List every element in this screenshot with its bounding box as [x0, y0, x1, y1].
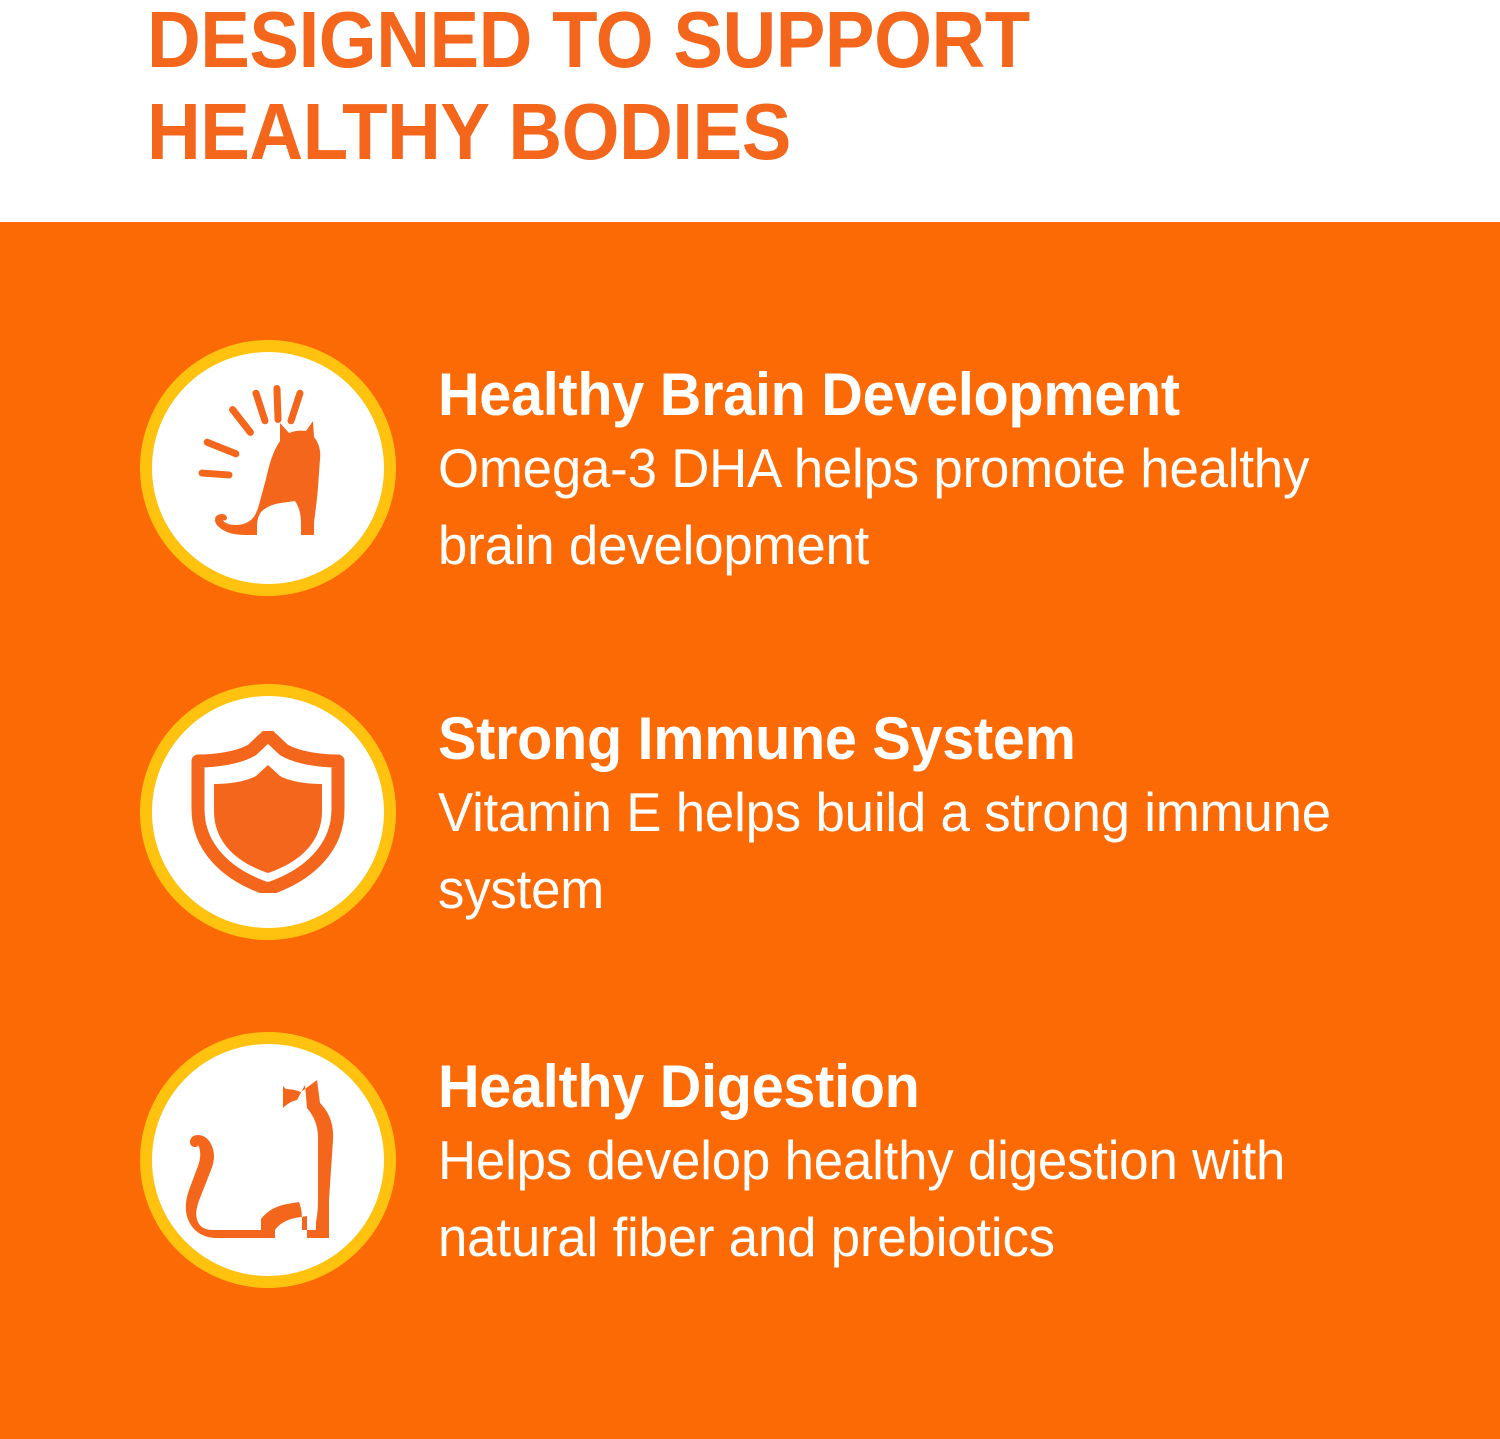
benefit-icon-badge — [140, 684, 396, 940]
benefit-title: Healthy Digestion — [438, 1054, 1408, 1120]
benefit-text-block: Strong Immune System Vitamin E helps bui… — [438, 684, 1448, 928]
benefit-description: Helps develop healthy digestion with nat… — [438, 1122, 1408, 1276]
cat-digestion-arrow-icon — [183, 1080, 353, 1240]
infographic-page: DESIGNED TO SUPPORT HEALTHY BODIES — [0, 0, 1500, 1439]
benefit-title: Strong Immune System — [438, 706, 1408, 772]
benefit-item-brain: Healthy Brain Development Omega-3 DHA he… — [0, 340, 1500, 596]
benefit-text-block: Healthy Brain Development Omega-3 DHA he… — [438, 340, 1448, 584]
benefit-item-immune: Strong Immune System Vitamin E helps bui… — [0, 684, 1500, 940]
benefit-description: Omega-3 DHA helps promote healthy brain … — [438, 430, 1408, 584]
benefit-text-block: Healthy Digestion Helps develop healthy … — [438, 1032, 1448, 1276]
benefit-title: Healthy Brain Development — [438, 362, 1408, 428]
benefit-description: Vitamin E helps build a strong immune sy… — [438, 774, 1408, 928]
cat-brain-rays-icon — [188, 383, 348, 553]
benefit-icon-badge — [140, 1032, 396, 1288]
benefit-item-digestion: Healthy Digestion Helps develop healthy … — [0, 1032, 1500, 1288]
benefits-panel: Healthy Brain Development Omega-3 DHA he… — [0, 222, 1500, 1439]
benefit-icon-badge — [140, 340, 396, 596]
shield-icon — [190, 731, 346, 893]
header-band: DESIGNED TO SUPPORT HEALTHY BODIES — [0, 0, 1500, 222]
page-title: DESIGNED TO SUPPORT HEALTHY BODIES — [147, 0, 1356, 178]
